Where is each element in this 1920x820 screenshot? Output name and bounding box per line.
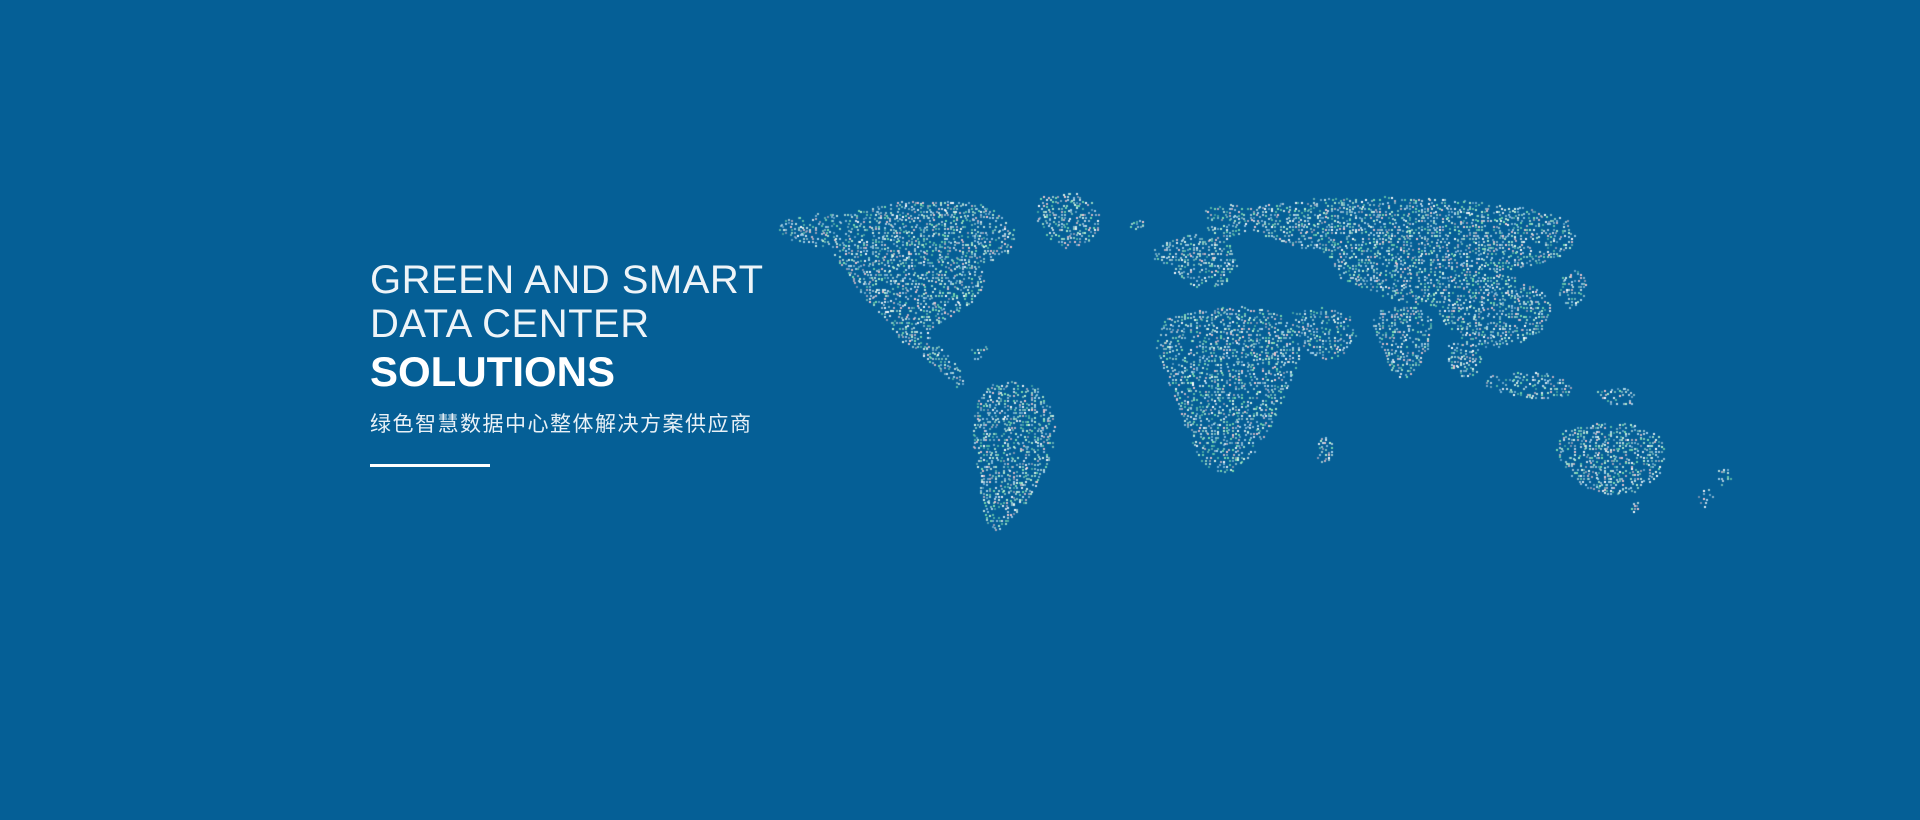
headline-line-3: SOLUTIONS (370, 348, 1010, 396)
hero-divider-rule (370, 464, 490, 467)
headline-line-2: DATA CENTER (370, 302, 1010, 346)
headline-line-1: GREEN AND SMART (370, 258, 1010, 302)
hero-text-block: GREEN AND SMART DATA CENTER SOLUTIONS 绿色… (370, 258, 1010, 467)
hero-subtitle: 绿色智慧数据中心整体解决方案供应商 (370, 408, 1010, 438)
hero-banner: GREEN AND SMART DATA CENTER SOLUTIONS 绿色… (0, 0, 1920, 820)
